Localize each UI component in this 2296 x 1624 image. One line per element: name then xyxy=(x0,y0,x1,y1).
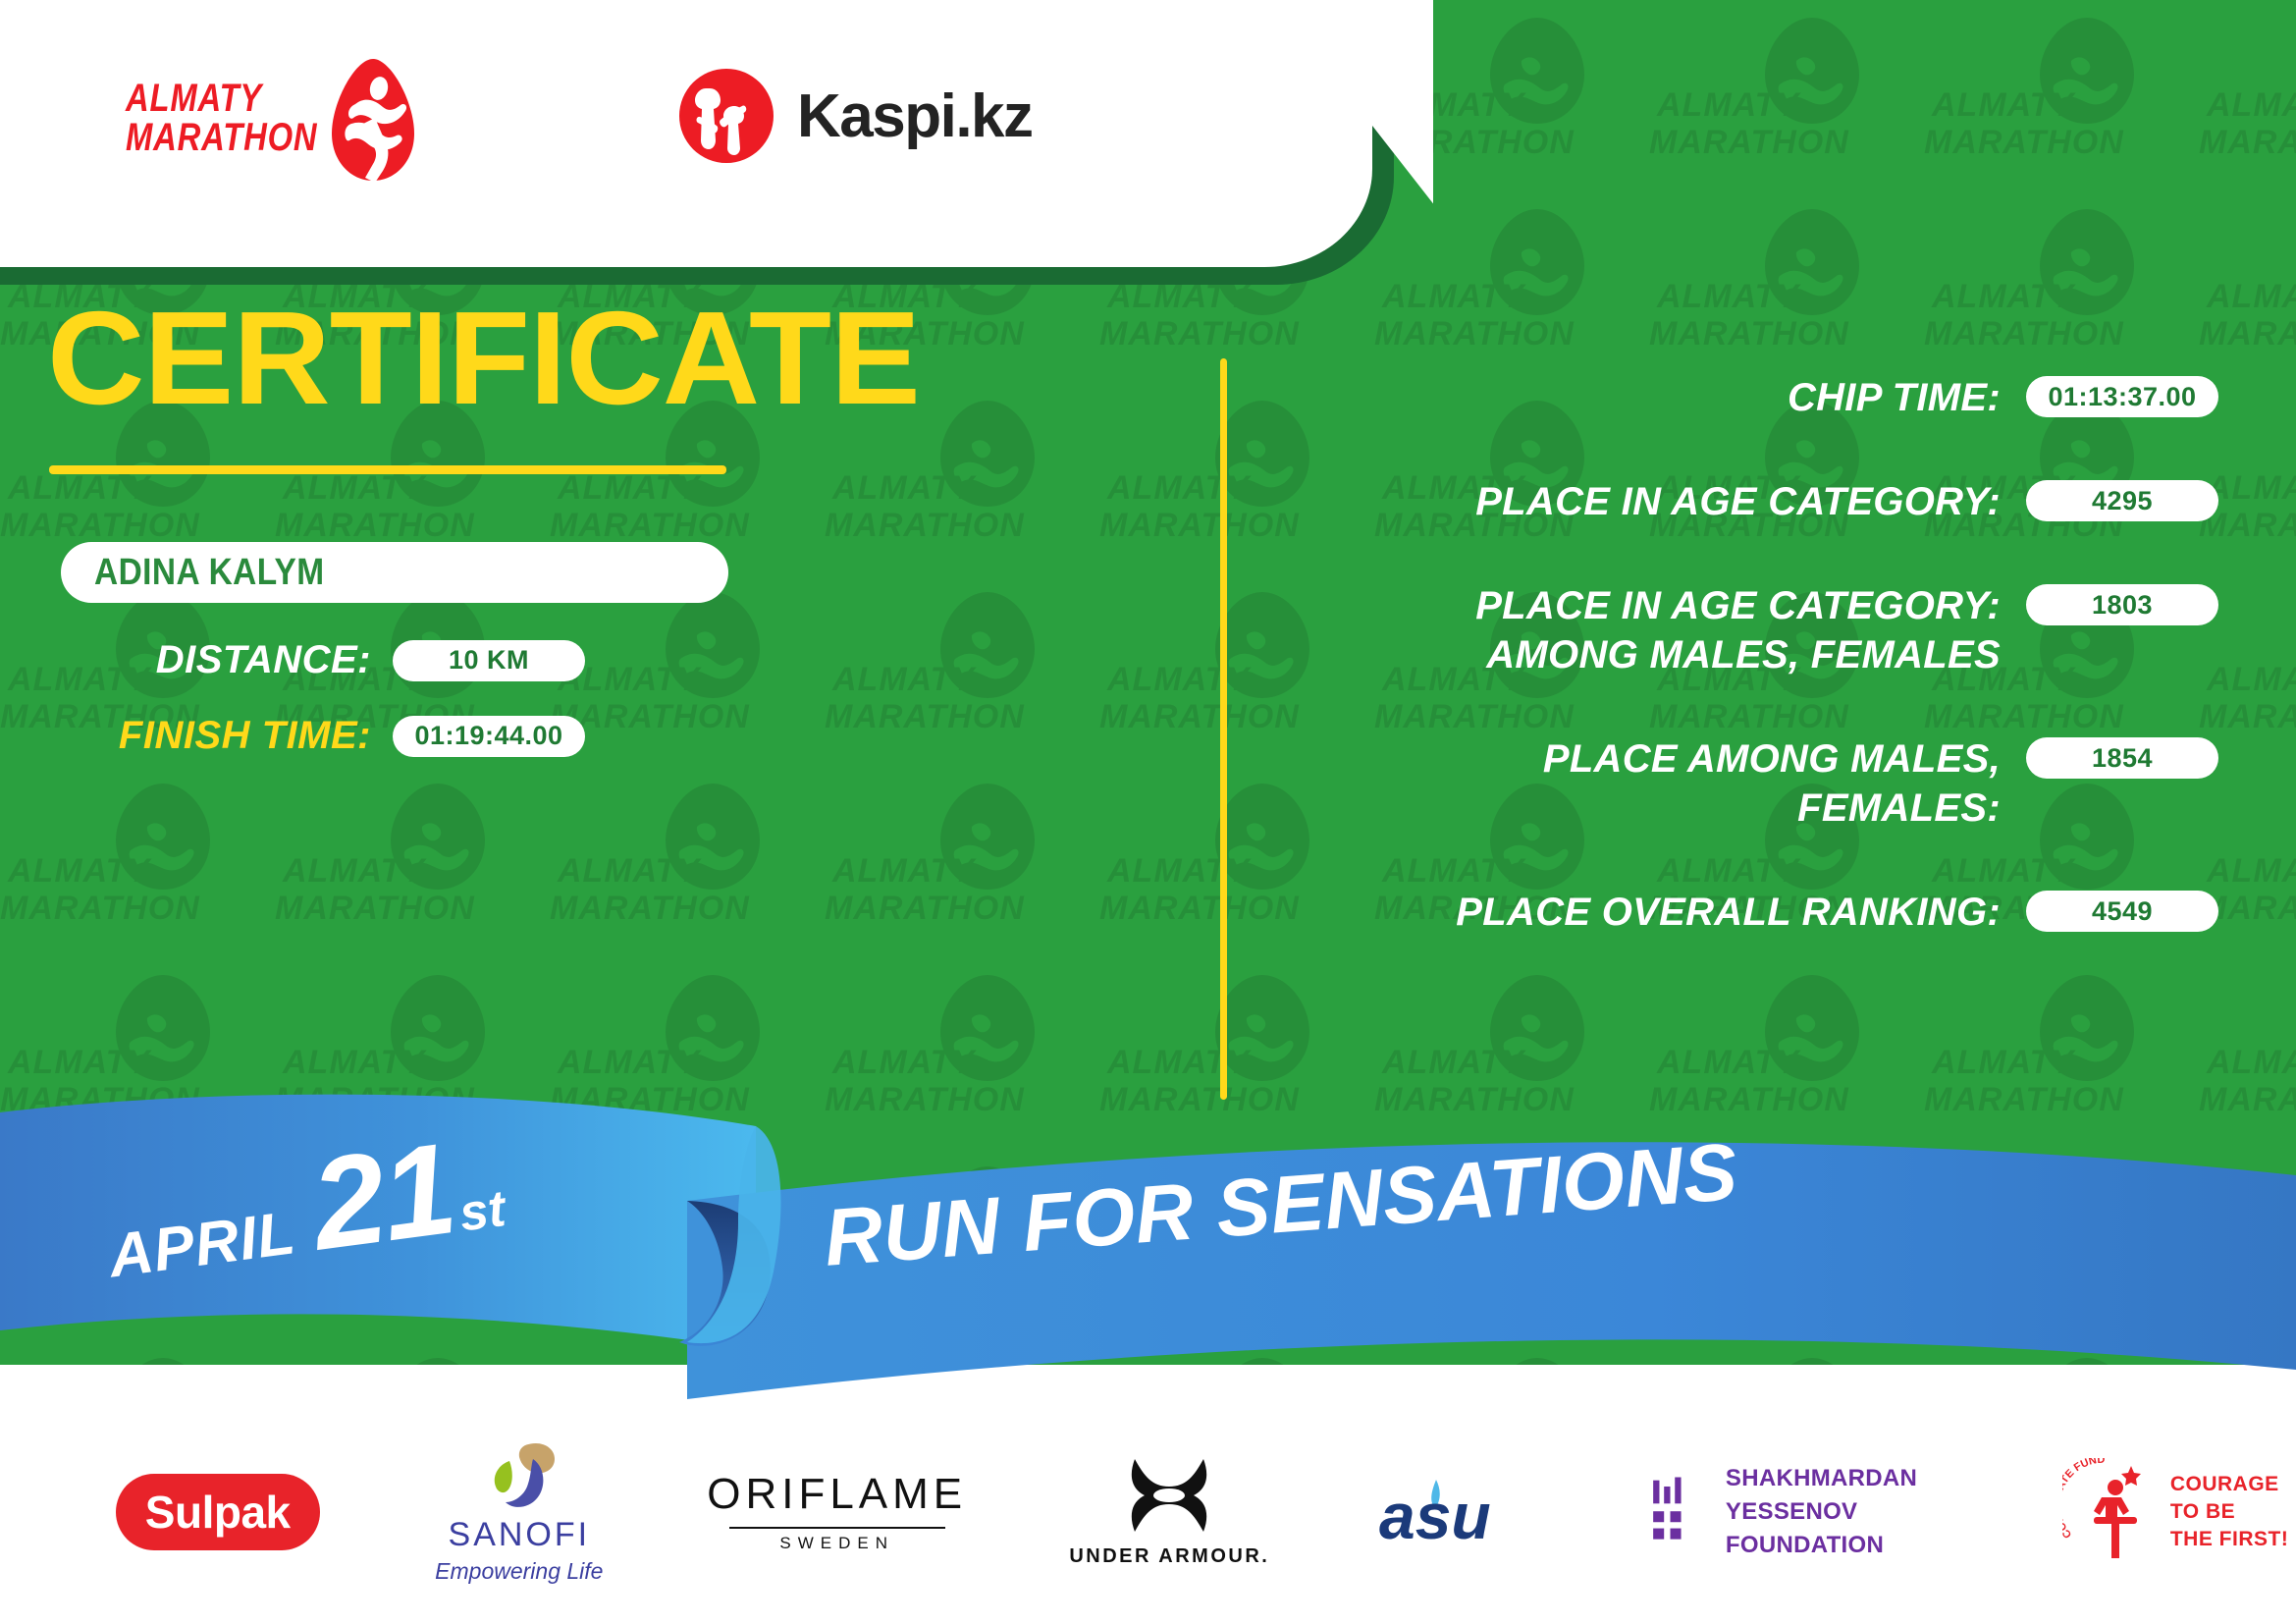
place-among-gender-label-line1: PLACE AMONG MALES, xyxy=(1543,737,2001,781)
chip-time-row: CHIP TIME: 01:13:37.00 xyxy=(1276,373,2218,422)
place-among-gender-value: 1854 xyxy=(2026,737,2218,779)
distance-value: 10 KM xyxy=(393,640,585,681)
logo-line-2: MARATHON xyxy=(126,116,317,159)
distance-row: DISTANCE: 10 KM xyxy=(0,638,766,682)
under-armour-wordmark: UNDER ARMOUR. xyxy=(1069,1545,1269,1568)
courage-arc-text: CORPORATE FUND xyxy=(2062,1458,2106,1541)
place-age-category-gender-label: PLACE IN AGE CATEGORY: AMONG MALES, FEMA… xyxy=(1276,581,2026,679)
oriflame-wordmark: ORIFLAME xyxy=(707,1470,967,1519)
kaspi-people-icon xyxy=(677,67,775,165)
finish-time-label: FINISH TIME: xyxy=(0,714,393,758)
almaty-marathon-logo: ALMATYMARATHON xyxy=(126,57,450,185)
sponsor-strip: Sulpak SANOFI Empowering Life ORIFLAME S… xyxy=(0,1399,2296,1624)
distance-label: DISTANCE: xyxy=(0,638,393,682)
sanofi-wordmark: SANOFI xyxy=(449,1516,591,1554)
chip-time-label: CHIP TIME: xyxy=(1276,373,2026,422)
asu-logo: asu xyxy=(1377,1470,1564,1554)
sanofi-tagline: Empowering Life xyxy=(435,1558,603,1585)
event-month: APRIL xyxy=(105,1198,300,1291)
place-overall-row: PLACE OVERALL RANKING: 4549 xyxy=(1276,888,2218,937)
runner-drop-icon xyxy=(330,57,416,183)
courage-line3: THE FIRST! xyxy=(2170,1526,2289,1553)
yessenov-line2: FOUNDATION xyxy=(1726,1529,1986,1562)
oriflame-subtitle: SWEDEN xyxy=(779,1534,894,1553)
athlete-name-field: ADINA KALYM xyxy=(61,542,728,603)
chip-time-label-line1: CHIP TIME: xyxy=(1788,376,2001,419)
kaspi-logo: Kaspi.kz xyxy=(677,67,1033,165)
place-overall-label: PLACE OVERALL RANKING: xyxy=(1276,888,2026,937)
page-title: CERTIFICATE xyxy=(47,295,920,422)
place-age-gender-label-line2: AMONG MALES, FEMALES xyxy=(1276,630,2001,679)
athlete-name: ADINA KALYM xyxy=(94,552,325,594)
svg-text:CORPORATE FUND: CORPORATE FUND xyxy=(2062,1458,2106,1541)
place-overall-value: 4549 xyxy=(2026,891,2218,932)
column-divider xyxy=(1220,358,1227,1100)
place-age-category-gender-row: PLACE IN AGE CATEGORY: AMONG MALES, FEMA… xyxy=(1276,581,2218,679)
courage-line1: COURAGE xyxy=(2170,1471,2289,1498)
chip-time-value: 01:13:37.00 xyxy=(2026,376,2218,417)
under-armour-logo xyxy=(1115,1455,1223,1536)
header-logos: ALMATYMARATHON Kaspi.kz xyxy=(0,0,1178,267)
logo-line-1: ALMATY xyxy=(126,77,262,120)
kaspi-wordmark: Kaspi.kz xyxy=(797,81,1033,151)
sponsor-courage-fund: CORPORATE FUND COURAGE TO BE THE FIRST! xyxy=(2055,1458,2296,1566)
place-among-gender-label-line2: FEMALES: xyxy=(1276,784,2001,833)
oriflame-rule xyxy=(729,1527,945,1529)
sponsor-sanofi: SANOFI Empowering Life xyxy=(415,1439,622,1585)
event-day: 21 xyxy=(303,1113,461,1278)
finish-time-value: 01:19:44.00 xyxy=(393,716,585,757)
sponsor-oriflame: ORIFLAME SWEDEN xyxy=(699,1470,975,1553)
almaty-marathon-wordmark: ALMATYMARATHON xyxy=(126,79,317,157)
title-underline xyxy=(49,465,726,474)
certificate-page: ALMATY MARATHON ALMATYMARATHON xyxy=(0,0,2296,1624)
sponsor-asu: asu xyxy=(1376,1470,1566,1554)
courage-wordmark: COURAGE TO BE THE FIRST! xyxy=(2170,1471,2289,1553)
place-among-gender-label: PLACE AMONG MALES, FEMALES: xyxy=(1276,734,2026,833)
asu-wordmark: asu xyxy=(1379,1480,1491,1552)
sulpak-logo: Sulpak xyxy=(116,1474,320,1550)
place-age-category-label-line1: PLACE IN AGE CATEGORY: xyxy=(1475,480,2001,523)
event-day-suffix: st xyxy=(456,1179,509,1244)
place-age-category-row: PLACE IN AGE CATEGORY: 4295 xyxy=(1276,477,2218,526)
place-age-category-value: 4295 xyxy=(2026,480,2218,521)
place-overall-label-line1: PLACE OVERALL RANKING: xyxy=(1456,891,2001,934)
sanofi-logo xyxy=(474,1439,564,1510)
courage-line2: TO BE xyxy=(2170,1498,2289,1526)
yessenov-wordmark: SHAKHMARDAN YESSENOV FOUNDATION xyxy=(1726,1462,1986,1562)
sponsor-sulpak: Sulpak xyxy=(88,1474,347,1550)
yessenov-foundation-logo xyxy=(1650,1468,1704,1556)
place-age-category-gender-value: 1803 xyxy=(2026,584,2218,625)
place-age-category-label: PLACE IN AGE CATEGORY: xyxy=(1276,477,2026,526)
distance-time-rows: DISTANCE: 10 KM FINISH TIME: 01:19:44.00 xyxy=(0,638,766,789)
place-age-gender-label-line1: PLACE IN AGE CATEGORY: xyxy=(1475,584,2001,627)
courage-fund-logo: CORPORATE FUND xyxy=(2062,1458,2157,1566)
sponsor-yessenov-foundation: SHAKHMARDAN YESSENOV FOUNDATION xyxy=(1650,1462,1986,1562)
finish-time-row: FINISH TIME: 01:19:44.00 xyxy=(0,714,766,758)
yessenov-line1: SHAKHMARDAN YESSENOV xyxy=(1726,1462,1986,1529)
sponsor-under-armour: UNDER ARMOUR. xyxy=(1057,1455,1281,1568)
place-among-gender-row: PLACE AMONG MALES, FEMALES: 1854 xyxy=(1276,734,2218,833)
results-column: CHIP TIME: 01:13:37.00 PLACE IN AGE CATE… xyxy=(1276,373,2218,992)
